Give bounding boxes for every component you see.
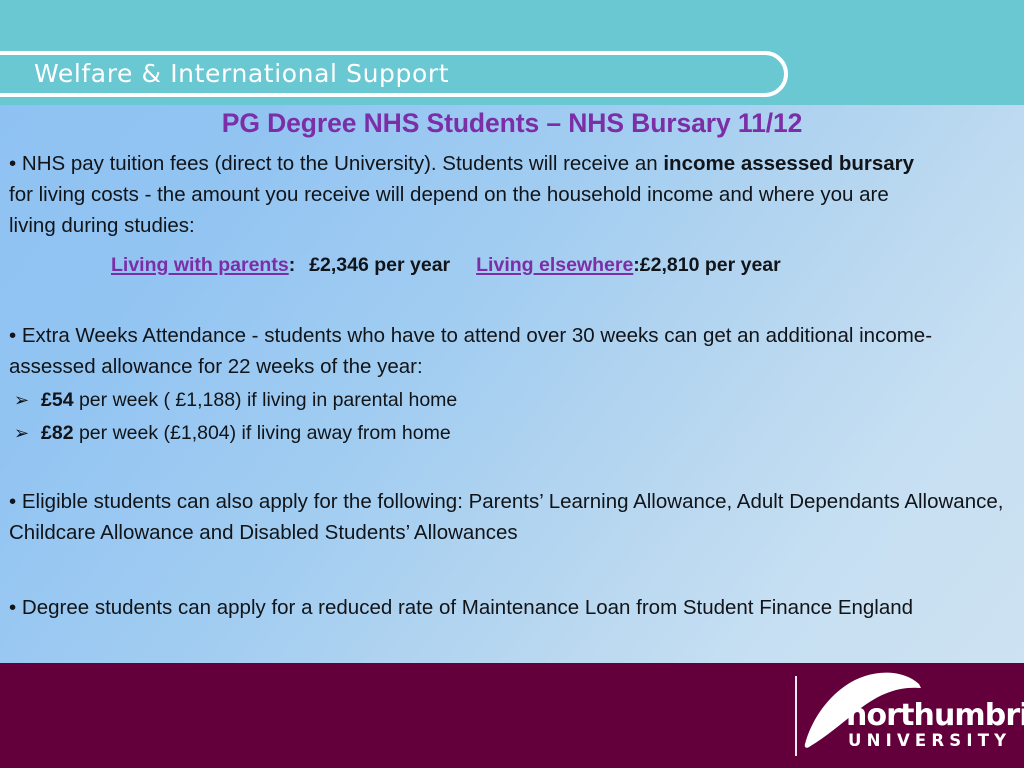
paragraph-maintenance-loan-text: Degree students can apply for a reduced … <box>16 596 913 619</box>
list-item: ➢£54 per week ( £1,188) if living in par… <box>10 384 810 417</box>
list-item: ➢£82 per week (£1,804) if living away fr… <box>10 417 810 450</box>
paragraph-nhs-tuition-part2: for living costs - the amount you receiv… <box>9 183 889 237</box>
weekly-rate-amount: £82 <box>41 422 74 444</box>
bursary-rates-line: Living with parents:£2,346 per yearLivin… <box>111 252 1011 278</box>
logo-subtitle: UNIVERSITY <box>848 732 1011 749</box>
value-living-with-parents: £2,346 per year <box>309 254 450 276</box>
paragraph-eligible-allowances-text: Eligible students can also apply for the… <box>9 490 1003 544</box>
weekly-rate-text: per week ( £1,188) if living in parental… <box>74 389 458 411</box>
arrow-bullet-icon: ➢ <box>14 384 29 417</box>
header-banner: Welfare & International Support <box>0 0 1024 105</box>
paragraph-nhs-tuition-part1: NHS pay tuition fees (direct to the Univ… <box>16 152 663 175</box>
weekly-rate-amount: £54 <box>41 389 74 411</box>
value-living-elsewhere: £2,810 per year <box>640 254 781 276</box>
colon-living-with-parents: : <box>289 254 296 276</box>
paragraph-maintenance-loan: • Degree students can apply for a reduce… <box>9 592 969 623</box>
northumbria-university-logo: northumbria UNIVERSITY <box>789 668 1019 764</box>
extra-weeks-rates-list: ➢£54 per week ( £1,188) if living in par… <box>10 384 810 450</box>
paragraph-extra-weeks-text: Extra Weeks Attendance - students who ha… <box>9 324 932 378</box>
label-living-elsewhere: Living elsewhere <box>476 254 633 276</box>
paragraph-nhs-tuition-bold: income assessed bursary <box>663 152 914 175</box>
slide-canvas: Welfare & International Support PG Degre… <box>0 0 1024 768</box>
header-banner-title: Welfare & International Support <box>34 56 754 92</box>
slide-body: • NHS pay tuition fees (direct to the Un… <box>0 148 1024 660</box>
label-living-with-parents: Living with parents <box>111 254 289 276</box>
paragraph-nhs-tuition: • NHS pay tuition fees (direct to the Un… <box>9 148 939 241</box>
paragraph-extra-weeks: • Extra Weeks Attendance - students who … <box>9 320 984 382</box>
arrow-bullet-icon: ➢ <box>14 417 29 450</box>
weekly-rate-text: per week (£1,804) if living away from ho… <box>74 422 451 444</box>
paragraph-eligible-allowances: • Eligible students can also apply for t… <box>9 486 1009 548</box>
page-title: PG Degree NHS Students – NHS Bursary 11/… <box>0 108 1024 139</box>
logo-wordmark: northumbria <box>846 701 1024 731</box>
